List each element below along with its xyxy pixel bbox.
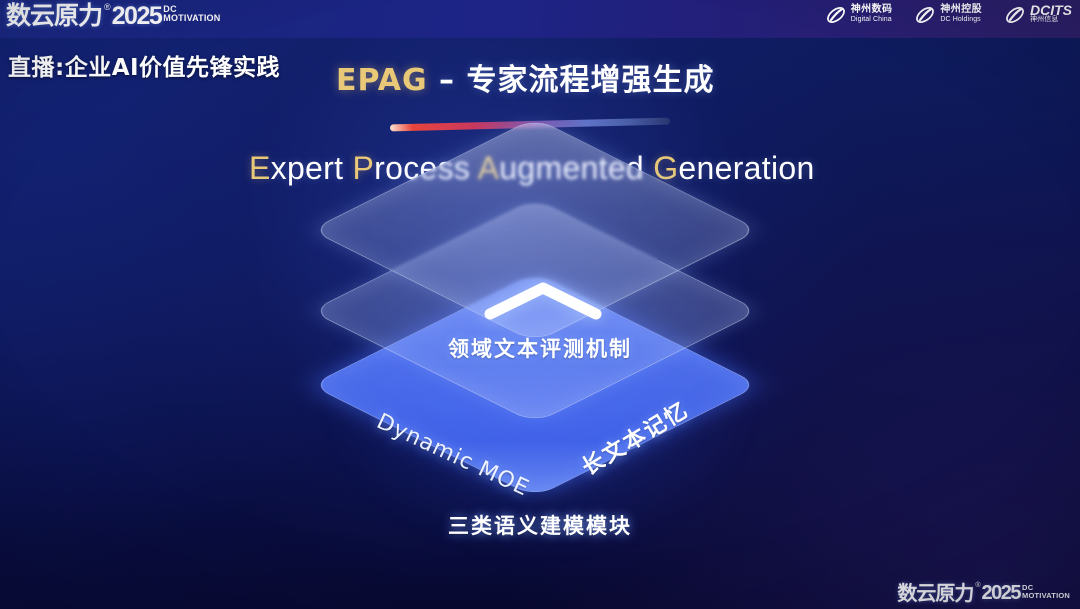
slide-canvas: 数云原力 ® 2025 DC MOTIVATION 神州数码 Digital C… [0, 0, 1080, 609]
layer-label-top: 领域文本评测机制 [448, 333, 632, 363]
watermark-registered-mark: ® [975, 581, 980, 591]
layer-label-bottom: 三类语义建模模块 [448, 510, 632, 540]
watermark-dc-line2: MOTIVATION [1022, 592, 1070, 600]
watermark-dc-motivation: DC MOTIVATION [1022, 584, 1070, 600]
watermark-year: 2025 [982, 581, 1021, 605]
layer-stack-diagram: 领域文本评测机制 Dynamic MOE 长文本记忆 三类语义建模模块 [0, 0, 1080, 609]
watermark-name-cn: 数云原力 [897, 581, 973, 605]
chevron-up-icon [484, 280, 602, 320]
footer-watermark-logo: 数云原力 ® 2025 DC MOTIVATION [897, 581, 1070, 605]
